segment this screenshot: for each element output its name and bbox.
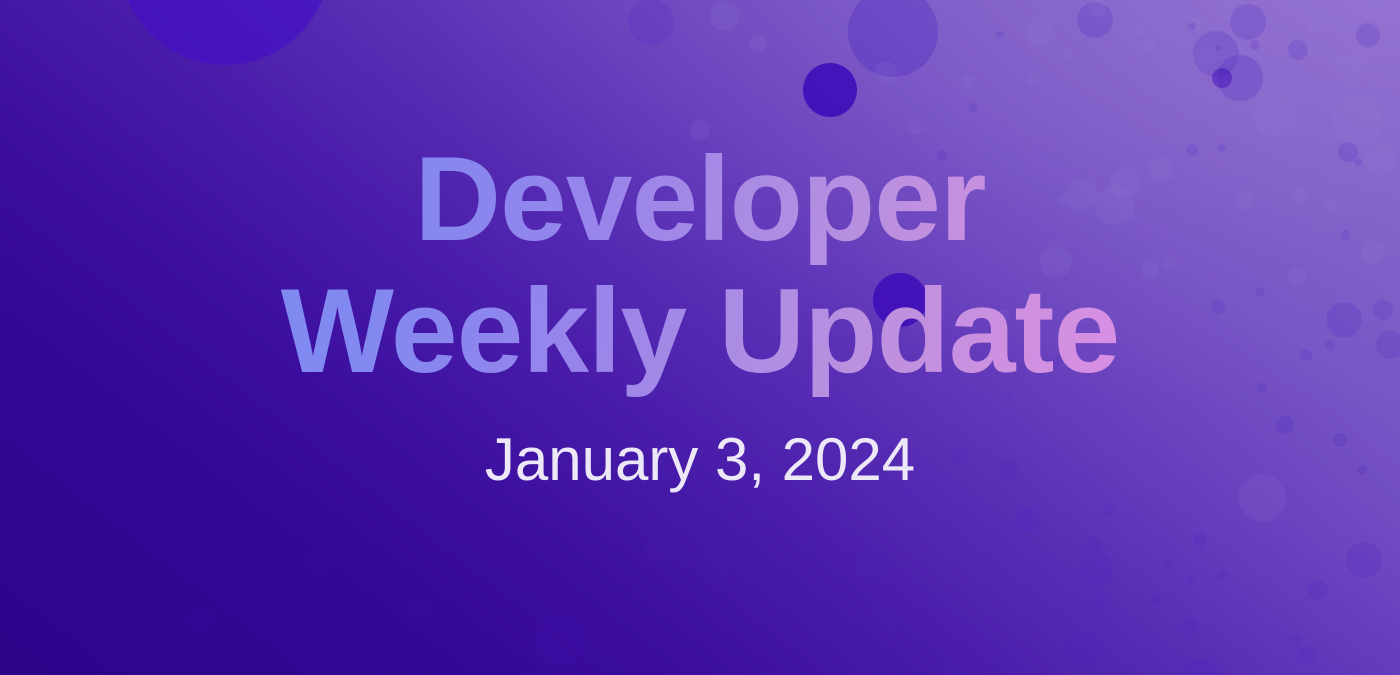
slide-date: January 3, 2024 (275, 425, 1125, 494)
title-slide: Developer Weekly Update January 3, 2024 (0, 0, 1400, 675)
title-line-2: Weekly Update (281, 265, 1119, 397)
title-line-1: Developer (281, 133, 1119, 265)
slide-content: Developer Weekly Update January 3, 2024 (0, 0, 1400, 675)
page-title: Developer Weekly Update (275, 133, 1125, 397)
slide-content-inner: Developer Weekly Update January 3, 2024 (275, 133, 1125, 494)
